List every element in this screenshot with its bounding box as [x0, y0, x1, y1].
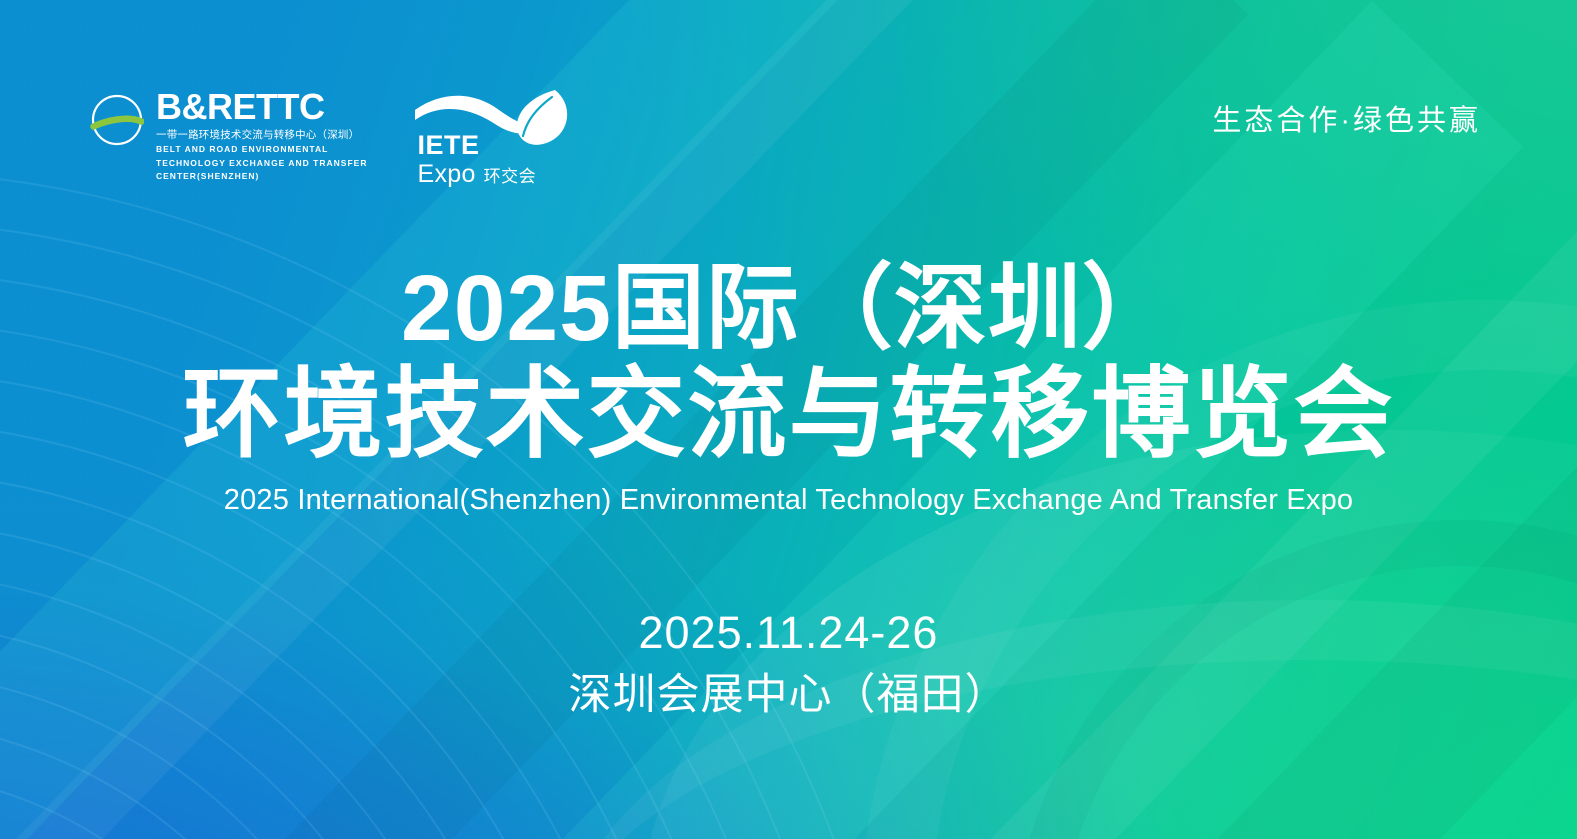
- slogan: 生态合作·绿色共赢: [1212, 103, 1481, 139]
- title-line-2: 环境技术交流与转移博览会: [0, 360, 1577, 468]
- event-details: 2025.11.24-26 深圳会展中心（福田）: [0, 604, 1577, 724]
- event-date: 2025.11.24-26: [0, 604, 1577, 662]
- logo-group: B&RETTC 一带一路环境技术交流与转移中心（深圳） BELT AND ROA…: [90, 88, 573, 188]
- brettc-english-3: CENTER(SHENZHEN): [156, 171, 367, 183]
- globe-icon: [90, 93, 144, 147]
- brettc-english-1: BELT AND ROAD ENVIRONMENTAL: [156, 144, 367, 156]
- event-banner: B&RETTC 一带一路环境技术交流与转移中心（深圳） BELT AND ROA…: [0, 0, 1577, 839]
- brettc-english-2: TECHNOLOGY EXCHANGE AND TRANSFER: [156, 158, 367, 170]
- brettc-chinese: 一带一路环境技术交流与转移中心（深圳）: [156, 128, 367, 142]
- iete-acronym: IETE: [417, 132, 536, 159]
- brettc-name: B&RETTC: [156, 88, 367, 126]
- title-english: 2025 International(Shenzhen) Environment…: [0, 480, 1577, 520]
- brettc-logo[interactable]: B&RETTC 一带一路环境技术交流与转移中心（深圳） BELT AND ROA…: [90, 88, 367, 183]
- iete-expo-word: Expo: [417, 161, 475, 187]
- event-venue: 深圳会展中心（福田）: [0, 666, 1577, 724]
- title-line-1: 2025国际（深圳）: [0, 258, 1577, 358]
- iete-expo-logo[interactable]: IETE Expo 环交会: [413, 88, 573, 188]
- iete-chinese-name: 环交会: [484, 167, 537, 187]
- title-block: 2025国际（深圳） 环境技术交流与转移博览会 2025 Internation…: [0, 258, 1577, 520]
